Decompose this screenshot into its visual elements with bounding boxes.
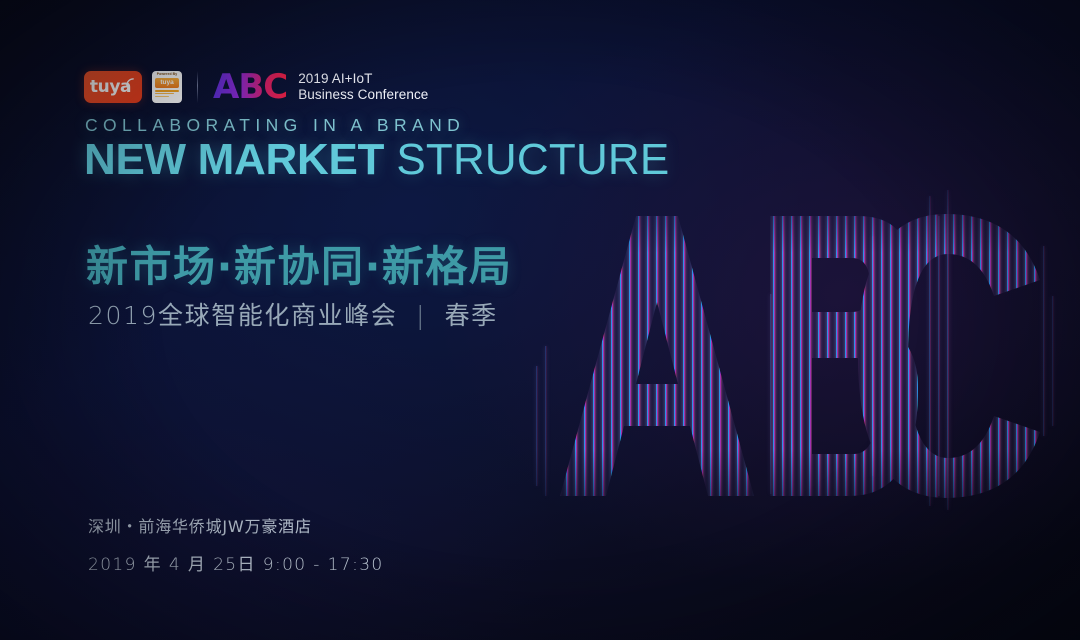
powered-by-caption: Powered By — [157, 73, 177, 76]
logo-divider — [197, 71, 198, 103]
chinese-slogan: 新市场·新协同·新格局 — [86, 233, 512, 294]
powered-by-tuya-badge: Powered By tuya — [152, 71, 182, 103]
abc-wordmark: ABC — [213, 70, 287, 104]
badge-wordmark: tuya — [160, 80, 173, 87]
conference-poster: tuya Powered By tuya ABC 2019 AI+IoT Bus… — [0, 0, 1080, 640]
tuya-logo: tuya — [84, 71, 142, 103]
chinese-subtitle: 2019全球智能化商业峰会 | 春季 — [88, 296, 498, 332]
badge-decor-lines — [155, 90, 179, 99]
abc-subtitle-line2: Business Conference — [298, 87, 428, 103]
headline-bold: NEW MARKET — [84, 135, 384, 184]
wifi-signal-icon — [126, 78, 135, 87]
abc-subtitle: 2019 AI+IoT Business Conference — [298, 71, 428, 103]
logo-row: tuya Powered By tuya ABC 2019 AI+IoT Bus… — [84, 66, 428, 108]
badge-wordmark-box: tuya — [155, 78, 179, 88]
chinese-subtitle-right: 春季 — [445, 301, 498, 330]
datetime-text: 2019 年 4 月 25日 9:00 - 17:30 — [88, 550, 384, 575]
abc-equalizer-artwork — [440, 176, 1060, 526]
headline: NEW MARKET STRUCTURE — [84, 136, 669, 183]
chinese-subtitle-divider: | — [416, 301, 426, 330]
chinese-subtitle-left: 2019全球智能化商业峰会 — [88, 301, 397, 330]
headline-light: STRUCTURE — [396, 135, 669, 184]
abc-subtitle-line1: 2019 AI+IoT — [298, 71, 428, 87]
venue-text: 深圳・前海华侨城JW万豪酒店 — [88, 513, 312, 537]
headline-kicker: COLLABORATING IN A BRAND — [85, 115, 465, 136]
